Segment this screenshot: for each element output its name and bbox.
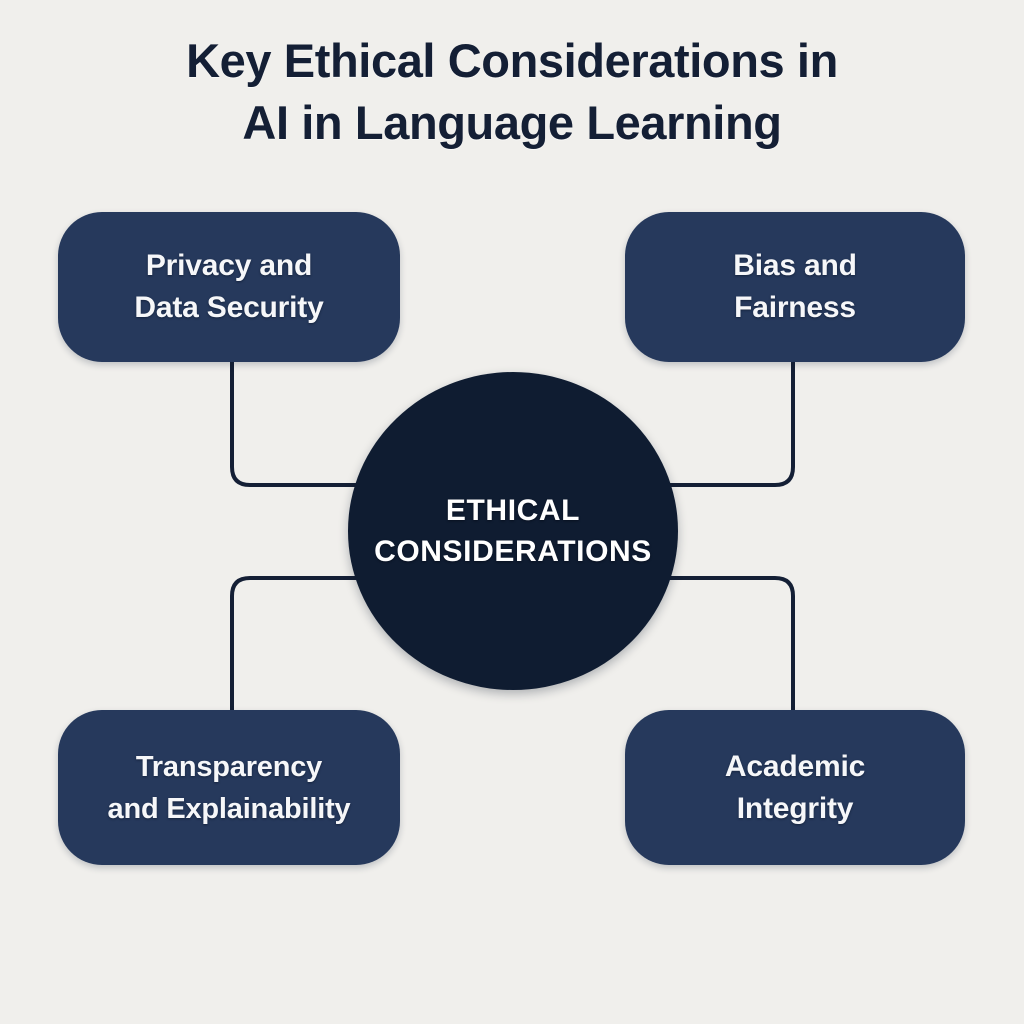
diagram-canvas: Key Ethical Considerations in AI in Lang…	[0, 0, 1024, 1024]
node-privacy-label: Privacy and Data Security	[120, 245, 337, 329]
hub-label-line-1: ETHICAL	[446, 490, 580, 531]
node-transparency-label: Transparency and Explainability	[94, 746, 365, 830]
node-bias-and-fairness[interactable]: Bias and Fairness	[625, 212, 965, 362]
node-bias-label: Bias and Fairness	[719, 245, 870, 329]
hub-ethical-considerations[interactable]: ETHICAL CONSIDERATIONS	[348, 372, 678, 690]
node-academic-integrity[interactable]: Academic Integrity	[625, 710, 965, 865]
node-transparency-and-explainability[interactable]: Transparency and Explainability	[58, 710, 400, 865]
hub-label-line-2: CONSIDERATIONS	[374, 531, 652, 572]
node-privacy-and-data-security[interactable]: Privacy and Data Security	[58, 212, 400, 362]
node-academic-label: Academic Integrity	[711, 746, 879, 830]
